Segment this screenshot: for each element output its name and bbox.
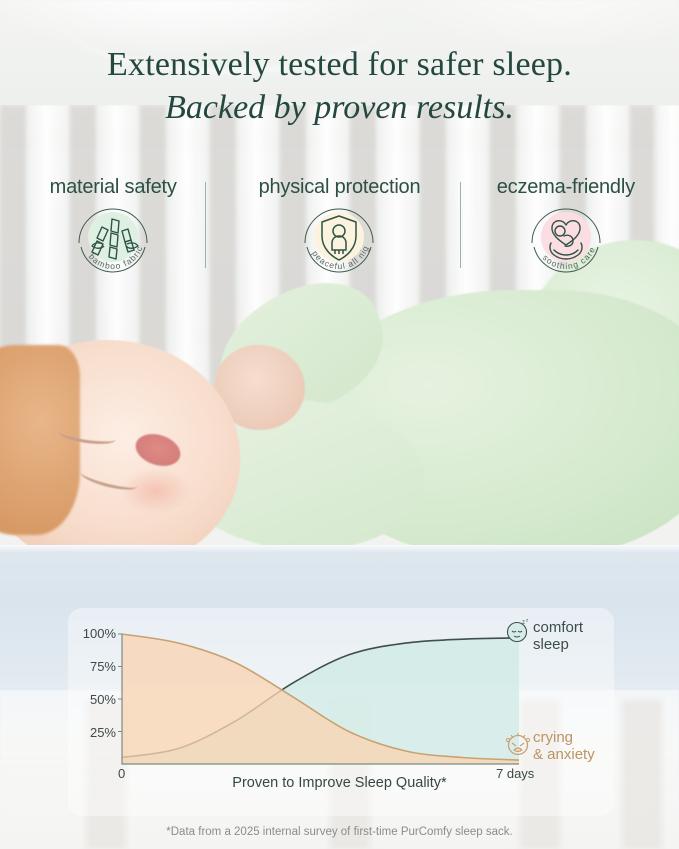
promo-image: Extensively tested for safer sleep. Back…	[0, 0, 679, 849]
legend-crying-anxiety: crying & anxiety	[533, 729, 595, 763]
y-tick-25: 25%	[72, 725, 116, 740]
legend-comfort-line-1: comfort	[533, 619, 583, 636]
chart-footnote: *Data from a 2025 internal survey of fir…	[0, 826, 679, 838]
badge-divider	[460, 182, 461, 268]
badge-seal: bamboo fabric	[70, 203, 156, 281]
badge-divider	[205, 182, 206, 268]
badge-physical-protection: physical protection peaceful all night	[226, 176, 452, 286]
headline: Extensively tested for safer sleep. Back…	[0, 44, 679, 130]
svg-text:z: z	[522, 620, 525, 626]
headline-line-2: Backed by proven results.	[0, 86, 679, 130]
y-tick-50: 50%	[72, 692, 116, 707]
headline-line-1: Extensively tested for safer sleep.	[0, 44, 679, 86]
chart-caption: Proven to Improve Sleep Quality*	[0, 775, 679, 791]
crying-baby-icon	[503, 728, 533, 756]
svg-text:z: z	[526, 618, 529, 623]
y-tick-75: 75%	[72, 659, 116, 674]
badge-title: eczema-friendly	[497, 176, 635, 199]
sleeping-baby-icon: z z	[505, 618, 531, 644]
legend-comfort-sleep: comfort sleep	[533, 619, 583, 653]
y-tick-100: 100%	[72, 626, 116, 641]
badge-eczema-friendly: eczema-friendly soothing care	[453, 176, 679, 286]
badge-title: physical protection	[259, 176, 421, 199]
legend-crying-line-2: & anxiety	[533, 746, 595, 763]
feature-badges: material safety	[0, 176, 679, 286]
baby-hair	[0, 345, 80, 535]
legend-crying-line-1: crying	[533, 729, 595, 746]
baby-cheek	[120, 468, 190, 514]
badge-seal: peaceful all night	[296, 203, 382, 281]
badge-seal: soothing care	[523, 203, 609, 281]
legend-comfort-line-2: sleep	[533, 636, 583, 653]
badge-title: material safety	[50, 176, 177, 199]
sleeping-baby	[0, 300, 679, 580]
badge-material-safety: material safety	[0, 176, 226, 286]
